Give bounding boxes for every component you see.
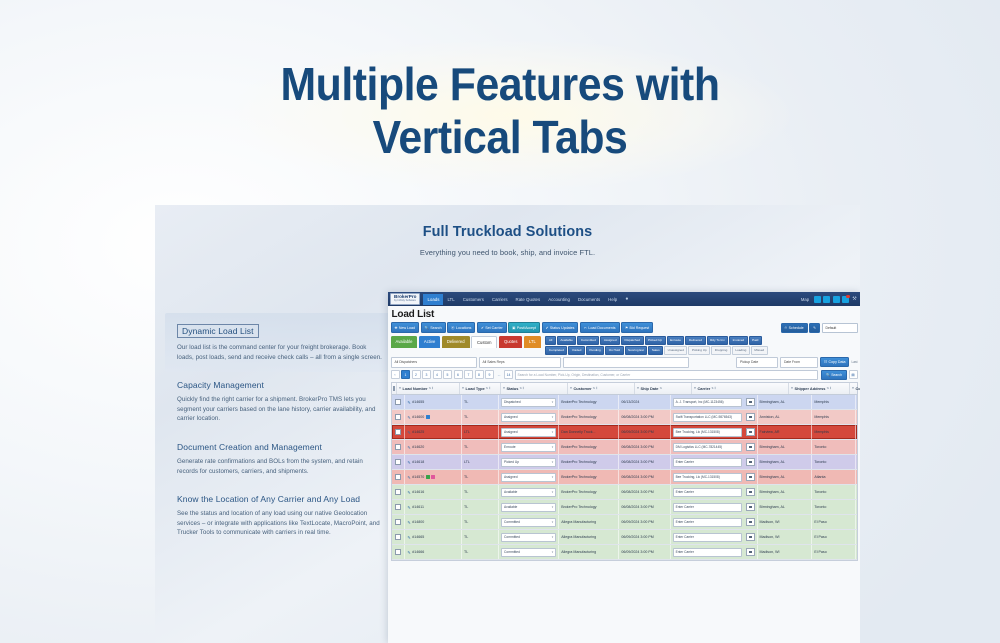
cell-shipper-address: Birmingham, AL (758, 485, 813, 499)
status-chip-scoring-est[interactable]: Scoring Est (625, 346, 648, 355)
feature-tab-0[interactable]: Dynamic Load ListOur load list is the co… (165, 313, 395, 372)
toolbar-new-load-button[interactable]: ✚New Load (391, 322, 420, 333)
status-chip-picked-up[interactable]: Picked Up (645, 336, 666, 345)
cell-shipper-address: Birmingham, AL (758, 470, 813, 484)
row-checkbox[interactable] (392, 425, 406, 439)
status-chip-available[interactable]: Available (557, 336, 577, 345)
cell-status[interactable]: Assigned▾ (499, 470, 559, 484)
status-chip-dispatched[interactable]: Dispatched (621, 336, 643, 345)
status-tabs: AvailableActiveDeliveredCustomQuotesLTL (391, 336, 541, 348)
globe-icon[interactable]: ● (623, 296, 630, 303)
toolbar-search-button[interactable]: 🔍Search (421, 322, 446, 333)
column-header-label: Customer (573, 386, 591, 391)
cell-ship-date: 06/08/2024 3:00 PM (619, 500, 670, 514)
cell-shipper-address: Birmingham, AL (758, 440, 813, 454)
cell-customer: Allegra Manufacturing (559, 530, 619, 544)
check-icon: ✔ (481, 326, 484, 330)
cell-ship-date: 06/09/2024 3:00 PM (619, 515, 670, 529)
status-value: Assigned (504, 430, 518, 434)
carrier-lookup-button[interactable] (746, 428, 755, 436)
checkbox-icon (395, 459, 401, 465)
cell-status[interactable]: Assigned▾ (499, 410, 559, 424)
carrier-input[interactable]: Enter Carrier (673, 548, 742, 557)
table-row[interactable]: ✎#14618LTLPicked Up▾BrokerPro Technology… (392, 455, 857, 470)
table-row[interactable]: ✎#14611TLAvailable▾BrokerPro Technology0… (392, 500, 857, 515)
edit-icon[interactable]: ✎ (407, 415, 410, 420)
checkbox-icon (395, 444, 401, 450)
feature-title: Document Creation and Management (177, 442, 383, 452)
feature-tab-2[interactable]: Document Creation and ManagementGenerate… (165, 434, 395, 486)
column-header-status[interactable]: ▼Status⇅ ⫴ (501, 383, 568, 395)
feature-tab-list: Dynamic Load ListOur load list is the co… (165, 313, 395, 548)
page-button-6[interactable]: 6 (454, 370, 463, 379)
pin-icon: ⦿ (451, 325, 454, 330)
cell-load-number[interactable]: ✎#14666 (405, 545, 462, 559)
cell-load-number[interactable]: ✎#14625 (405, 425, 462, 439)
cell-status[interactable]: Committed▾ (499, 515, 559, 529)
table-row[interactable]: ✎#14655TLDispatched▾BrokerPro Technology… (392, 395, 857, 410)
cell-ship-date: 06/08/2024 3:00 PM (619, 470, 670, 484)
status-tab-available[interactable]: Available (391, 336, 418, 348)
lookup-icon (749, 521, 752, 524)
row-checkbox[interactable] (392, 545, 406, 559)
carrier-input[interactable]: Enter Carrier (673, 503, 742, 512)
carrier-lookup-button[interactable] (746, 533, 755, 541)
carrier-lookup-button[interactable] (746, 413, 755, 421)
column-header-load-type[interactable]: ▼Load Type⇅ ⫴ (460, 383, 501, 395)
cell-load-type: TL (462, 440, 499, 454)
status-chip-dropping[interactable]: Dropping (711, 346, 731, 355)
search-icon: 🔍 (425, 326, 429, 330)
status-value: Enroute (504, 445, 516, 449)
nav-item-loads[interactable]: Loads (423, 294, 443, 305)
status-chip-all[interactable]: All (545, 336, 555, 345)
status-dropdown[interactable]: Assigned▾ (501, 473, 556, 482)
status-chip-on-hold[interactable]: On Hold (605, 346, 623, 355)
filter-icon[interactable]: ▼ (399, 386, 402, 390)
sort-icon[interactable]: ⇅ ⫴ (826, 386, 831, 390)
grid-options-button[interactable]: ▤ (849, 370, 858, 379)
cell-consignee: El Paso (812, 530, 856, 544)
toolbar-button-label: Load Documents (588, 326, 615, 330)
table-row[interactable]: ✎#14625LTLAssigned▾Dan Donnelly Truck...… (392, 425, 857, 440)
cell-status[interactable]: Dispatched▾ (499, 395, 559, 409)
checkbox-icon (395, 399, 401, 405)
status-dropdown[interactable]: Assigned▾ (501, 428, 556, 437)
wrench-icon[interactable]: ⚒ (851, 296, 858, 303)
cell-load-number[interactable]: ✎#14616 (405, 485, 462, 499)
cell-shipper-address: Madison, WI (758, 545, 813, 559)
edit-icon[interactable]: ✎ (407, 520, 410, 525)
tag-icon: ⚑ (625, 326, 628, 330)
status-dropdown[interactable]: Available▾ (501, 503, 556, 512)
status-chip-voided[interactable]: Voided (568, 346, 584, 355)
cell-carrier[interactable]: Bee Trucking, Llc (MC-131508) (671, 425, 758, 439)
checkbox-icon (395, 534, 401, 540)
row-checkbox[interactable] (392, 395, 406, 409)
cell-ship-date: 06/08/2024 3:00 PM (619, 455, 670, 469)
section-subtitle: Everything you need to book, ship, and i… (155, 248, 860, 257)
cell-status[interactable]: Picked Up▾ (499, 455, 559, 469)
view-select[interactable]: Default (822, 323, 858, 333)
cell-load-number[interactable]: ✎#14620 (405, 440, 462, 454)
feature-body: See the status and location of any load … (177, 509, 383, 538)
filter-icon[interactable]: ▼ (694, 386, 697, 390)
load-number-label: #14620 (412, 445, 424, 449)
carrier-input[interactable]: Bee Trucking, Llc (MC-131508) (673, 428, 742, 437)
cell-load-type: TL (462, 500, 499, 514)
search-button[interactable]: 🔍 Search (821, 370, 847, 380)
toolbar-post-accept-button[interactable]: ▣Post/Accept (508, 322, 540, 333)
cell-load-number[interactable]: ✎#14800 (405, 515, 462, 529)
pickup-date-filter[interactable]: Pickup Date (736, 357, 778, 368)
carrier-lookup-button[interactable] (746, 443, 755, 451)
page-ellipsis: ... (496, 371, 503, 378)
nav-item-carriers[interactable]: Carriers (488, 294, 512, 305)
cell-load-number[interactable]: ✎#14655 (405, 395, 462, 409)
status-chip-unassigned[interactable]: Unassigned (664, 346, 687, 355)
date-from-input[interactable]: Date From (780, 357, 818, 368)
nav-item-customers[interactable]: Customers (459, 294, 488, 305)
toolbar-button-label: Locations (456, 326, 471, 330)
schedule-button[interactable]: ⏱ Schedule (781, 323, 808, 333)
status-chip-sales[interactable]: Sales (648, 346, 663, 355)
nav-item-accounting[interactable]: Accounting (544, 294, 574, 305)
chevron-down-icon: ▾ (552, 460, 554, 464)
nav-item-help[interactable]: Help (604, 294, 621, 305)
copy-data-button[interactable]: ☷ Copy Data (820, 357, 850, 367)
table-row[interactable]: ✎#14616TLAvailable▾BrokerPro Technology0… (392, 485, 857, 500)
cell-customer: Allegra Manufacturing (559, 515, 619, 529)
carrier-lookup-button[interactable] (746, 503, 755, 511)
sales-rep-filter[interactable]: All Sales Reps (479, 357, 561, 368)
toolbar-load-documents-button[interactable]: ✂Load Documents (580, 322, 620, 333)
carrier-input[interactable]: Bee Trucking, Llc (MC-131508) (673, 473, 742, 482)
edit-icon[interactable]: ✎ (407, 445, 410, 450)
table-row[interactable]: ✎#14665TLCommitted▾Allegra Manufacturing… (392, 530, 857, 545)
status-value: Assigned (504, 415, 518, 419)
cell-consignee: El Paso (812, 545, 856, 559)
cell-customer: BrokerPro Technology (559, 470, 619, 484)
status-chip-assigned[interactable]: Assigned (600, 336, 620, 345)
cell-carrier[interactable]: Enter Carrier (671, 485, 758, 499)
mail-icon[interactable] (823, 296, 830, 303)
edit-icon[interactable]: ✎ (407, 490, 410, 495)
chevron-down-icon: ▾ (552, 475, 554, 479)
column-header-customer[interactable]: ▼Customer⇅ ⫴ (568, 383, 635, 395)
cell-load-number[interactable]: ✎#14570 (405, 470, 462, 484)
page-button-5[interactable]: 5 (443, 370, 452, 379)
edit-icon[interactable]: ✎ (407, 550, 410, 555)
cell-ship-date: 06/08/2024 3:00 PM (619, 410, 670, 424)
grid-rows: ✎#14655TLDispatched▾BrokerPro Technology… (392, 395, 857, 560)
carrier-input[interactable]: Swift Transportation LLC (MC-9876543) (673, 413, 742, 422)
row-tag-icon (426, 415, 430, 420)
load-number-label: #14600 (412, 415, 424, 419)
status-dropdown[interactable]: Committed▾ (501, 548, 556, 557)
feature-title: Dynamic Load List (177, 324, 259, 338)
checkbox-icon (393, 386, 395, 392)
page-button-1[interactable]: 1 (401, 370, 410, 379)
edit-icon[interactable]: ✎ (407, 535, 410, 540)
headline-line-2: Vertical Tabs (35, 111, 965, 164)
load-number-label: #14655 (412, 400, 424, 404)
edit-icon[interactable]: ✎ (407, 475, 410, 480)
grid-column-headers: ▼Load Number⇅ ⫴▼Load Type⇅ ⫴▼Status⇅ ⫴▼C… (397, 383, 861, 395)
lookup-icon (749, 401, 752, 404)
status-chip-groups: AllAvailableCommittedAssignedDispatchedP… (545, 336, 857, 355)
edit-icon[interactable]: ✎ (407, 400, 410, 405)
page-button-2[interactable]: 2 (412, 370, 421, 379)
cell-shipper-address: Fairview, AR (758, 425, 813, 439)
column-header-label: Consignee (855, 386, 860, 391)
cell-status[interactable]: Committed▾ (499, 545, 559, 559)
chevron-down-icon: ▾ (552, 520, 554, 524)
toolbar-button-label: Status Updates (550, 326, 575, 330)
page-last-button[interactable]: 14 (504, 370, 513, 379)
cell-consignee: Toronto (812, 500, 856, 514)
chevron-down-icon: ▾ (552, 505, 554, 509)
sort-icon[interactable]: ⇅ (659, 386, 662, 390)
brokerpro-logo[interactable]: BrokerPro by Infinity Software (390, 293, 420, 306)
lookup-icon (749, 461, 752, 464)
row-checkbox[interactable] (392, 485, 406, 499)
bell-badge (846, 295, 850, 299)
column-header-shipper-address[interactable]: ▼Shipper Address⇅ ⫴ (789, 383, 850, 395)
bell-icon[interactable] (842, 296, 849, 303)
sort-icon[interactable]: ⇅ ⫴ (486, 386, 491, 390)
cell-consignee: Memphis (812, 395, 856, 409)
cell-shipper-address: Madison, WI (758, 515, 813, 529)
cell-load-number[interactable]: ✎#14600 (405, 410, 462, 424)
status-dropdown[interactable]: Committed▾ (501, 533, 556, 542)
column-header-ship-date[interactable]: ▼Ship Date⇅ (635, 383, 692, 395)
lookup-icon (749, 506, 752, 509)
cell-status[interactable]: Enroute▾ (499, 440, 559, 454)
carrier-input[interactable]: DM Logistics LLC (MC-7821445) (673, 443, 742, 452)
nav-item-rate-quotes[interactable]: Rate Quotes (512, 294, 545, 305)
edit-icon[interactable]: ✎ (407, 505, 410, 510)
cell-ship-date: 06/09/2024 3:00 PM (619, 425, 670, 439)
carrier-input[interactable]: Enter Carrier (673, 488, 742, 497)
quick-filter-input[interactable] (563, 357, 689, 368)
status-tab-row: AvailableActiveDeliveredCustomQuotesLTL … (391, 336, 858, 355)
cell-load-number[interactable]: ✎#14618 (405, 455, 462, 469)
status-chip-rdy-to-inv[interactable]: Rdy To Inv (707, 336, 729, 345)
page-prev-button[interactable]: ‹ (391, 370, 400, 379)
status-dropdown[interactable]: Assigned▾ (501, 413, 556, 422)
carrier-lookup-button[interactable] (746, 458, 755, 466)
column-header-label: Carrier (697, 386, 710, 391)
status-chip-delivered[interactable]: Delivered (685, 336, 705, 345)
sort-icon[interactable]: ⇅ ⫴ (519, 386, 524, 390)
search-input[interactable]: Search for a Load Number, Pick-Up, Origi… (515, 370, 818, 380)
page-button-4[interactable]: 4 (433, 370, 442, 379)
column-header-label: Load Number (402, 386, 427, 391)
cell-status[interactable]: Available▾ (499, 500, 559, 514)
status-tab-custom[interactable]: Custom (471, 336, 497, 348)
filter-icon[interactable]: ▼ (637, 386, 640, 390)
load-number-label: #14665 (412, 535, 424, 539)
carrier-lookup-button[interactable] (746, 473, 755, 481)
status-chip-enroute[interactable]: Enroute (667, 336, 685, 345)
row-checkbox[interactable] (392, 530, 406, 544)
cell-carrier[interactable]: A. J. Transport, Inc (MC-1123456) (671, 395, 758, 409)
lookup-icon (749, 446, 752, 449)
column-header-carrier[interactable]: ▼Carrier⇅ ⫴ (692, 383, 789, 395)
status-tab-ltl[interactable]: LTL (524, 336, 541, 348)
status-dropdown[interactable]: Committed▾ (501, 518, 556, 527)
status-value: Available (504, 490, 517, 494)
cell-carrier[interactable]: Bee Trucking, Llc (MC-131508) (671, 470, 758, 484)
status-chip-committed[interactable]: Committed (577, 336, 599, 345)
toolbar-bid-request-button[interactable]: ⚑Bid Request (621, 322, 653, 333)
carrier-lookup-button[interactable] (746, 518, 755, 526)
toolbar-button-label: New Load (399, 326, 415, 330)
cell-load-number[interactable]: ✎#14665 (405, 530, 462, 544)
status-dropdown[interactable]: Dispatched▾ (501, 398, 556, 407)
row-checkbox[interactable] (392, 500, 406, 514)
feature-title: Capacity Management (177, 380, 383, 390)
cell-carrier[interactable]: Enter Carrier (671, 545, 758, 559)
table-row[interactable]: ✎#14620TLEnroute▾BrokerPro Technology06/… (392, 440, 857, 455)
cell-carrier[interactable]: Swift Transportation LLC (MC-9876543) (671, 410, 758, 424)
lookup-icon (749, 416, 752, 419)
check-icon: ✔ (546, 326, 549, 330)
filter-icon[interactable]: ▼ (462, 386, 465, 390)
status-chip-invoiced[interactable]: Invoiced (729, 336, 748, 345)
page-button-9[interactable]: 9 (485, 370, 494, 379)
toolbar-locations-button[interactable]: ⦿Locations (447, 322, 475, 333)
column-header-consignee[interactable]: ▼Consignee⇅ (850, 383, 861, 395)
filter-icon[interactable]: ▼ (503, 386, 506, 390)
row-checkbox[interactable] (392, 470, 406, 484)
status-tab-quotes[interactable]: Quotes (499, 336, 523, 348)
page-button-7[interactable]: 7 (464, 370, 473, 379)
chevron-down-icon: ▾ (552, 445, 554, 449)
feature-title: Know the Location of Any Carrier and Any… (177, 494, 383, 504)
cell-status[interactable]: Assigned▾ (499, 425, 559, 439)
cell-ship-date: 06/09/2024 3:00 PM (619, 545, 670, 559)
map-link[interactable]: Map (801, 297, 809, 302)
status-dropdown[interactable]: Available▾ (501, 488, 556, 497)
cell-carrier[interactable]: Enter Carrier (671, 500, 758, 514)
status-chip-pending[interactable]: Pending (586, 346, 604, 355)
status-chip-row-1: AllAvailableCommittedAssignedDispatchedP… (545, 336, 857, 345)
cell-load-type: TL (462, 515, 499, 529)
nav-item-documents[interactable]: Documents (574, 294, 604, 305)
status-dropdown[interactable]: Picked Up▾ (501, 458, 556, 467)
status-tab-active[interactable]: Active (419, 336, 440, 348)
cell-load-type: TL (462, 530, 499, 544)
cell-carrier[interactable]: Enter Carrier (671, 455, 758, 469)
carrier-lookup-button[interactable] (746, 548, 755, 556)
row-checkbox[interactable] (392, 455, 406, 469)
toolbar-set-carrier-button[interactable]: ✔Set Carrier (477, 322, 507, 333)
page-button-8[interactable]: 8 (475, 370, 484, 379)
search-button-label: Search (831, 373, 842, 377)
cell-carrier[interactable]: Enter Carrier (671, 515, 758, 529)
table-row[interactable]: ✎#14600TLAssigned▾BrokerPro Technology06… (392, 410, 857, 425)
cell-customer: BrokerPro Technology (559, 395, 619, 409)
row-tag-icon (426, 475, 430, 480)
table-row[interactable]: ✎#14570TLAssigned▾BrokerPro Technology06… (392, 470, 857, 485)
carrier-lookup-button[interactable] (746, 398, 755, 406)
row-checkbox[interactable] (392, 515, 406, 529)
action-toolbar: ✚New Load🔍Search⦿Locations✔Set Carrier▣P… (391, 322, 858, 333)
feature-tab-3[interactable]: Know the Location of Any Carrier and Any… (165, 486, 395, 548)
nav-item-ltl[interactable]: LTL (443, 294, 458, 305)
status-chip-missed[interactable]: Missed (751, 346, 768, 355)
folder-icon: ▣ (512, 326, 515, 330)
sort-icon[interactable]: ⇅ ⫴ (429, 386, 434, 390)
logo-tagline: by Infinity Software (394, 300, 416, 303)
carrier-input[interactable]: Enter Carrier (673, 458, 742, 467)
cell-customer: Allegra Manufacturing (559, 545, 619, 559)
filter-icon[interactable]: ▼ (570, 386, 573, 390)
status-chip-picking-up[interactable]: Picking Up (688, 346, 710, 355)
edit-view-button[interactable]: ✎ (809, 323, 820, 333)
column-header-label: Ship Date (640, 386, 658, 391)
toolbar-status-updates-button[interactable]: ✔Status Updates (542, 322, 579, 333)
user-icon[interactable] (814, 296, 821, 303)
filter-row: All Dispatchers All Sales Reps Pickup Da… (391, 357, 858, 368)
cell-shipper-address: Birmingham, AL (758, 455, 813, 469)
status-dropdown[interactable]: Enroute▾ (501, 443, 556, 452)
table-row[interactable]: ✎#14800TLCommitted▾Allegra Manufacturing… (392, 515, 857, 530)
checkbox-icon (395, 519, 401, 525)
app-body: Load List ✚New Load🔍Search⦿Locations✔Set… (388, 306, 860, 643)
status-tab-delivered[interactable]: Delivered (442, 336, 470, 348)
carrier-input[interactable]: Enter Carrier (673, 518, 742, 527)
paperclip-icon: ✂ (584, 326, 587, 330)
grid-header-row: ▼Load Number⇅ ⫴▼Load Type⇅ ⫴▼Status⇅ ⫴▼C… (392, 383, 857, 396)
edit-icon[interactable]: ✎ (407, 460, 410, 465)
row-checkbox[interactable] (392, 440, 406, 454)
page-button-3[interactable]: 3 (422, 370, 431, 379)
toolbar-button-label: Set Carrier (485, 326, 502, 330)
cell-carrier[interactable]: Enter Carrier (671, 530, 758, 544)
toolbar-buttons: ✚New Load🔍Search⦿Locations✔Set Carrier▣P… (391, 322, 654, 333)
calendar-icon[interactable] (833, 296, 840, 303)
cell-status[interactable]: Available▾ (499, 485, 559, 499)
chevron-down-icon: ▾ (552, 490, 554, 494)
page-number-list: 123456789 (401, 370, 494, 379)
feature-body: Generate rate confirmations and BOLs fro… (177, 457, 383, 476)
sort-icon[interactable]: ⇅ ⫴ (593, 386, 598, 390)
sort-icon[interactable]: ⇅ ⫴ (711, 386, 716, 390)
row-checkbox[interactable] (392, 410, 406, 424)
filter-icon[interactable]: ▼ (852, 386, 855, 390)
feature-tab-1[interactable]: Capacity ManagementQuickly find the righ… (165, 372, 395, 434)
column-header-load-number[interactable]: ▼Load Number⇅ ⫴ (397, 383, 460, 395)
filter-icon[interactable]: ▼ (791, 386, 794, 390)
status-chip-paid[interactable]: Paid (749, 336, 762, 345)
table-row[interactable]: ✎#14666TLCommitted▾Allegra Manufacturing… (392, 545, 857, 560)
status-chip-completed[interactable]: Completed (545, 346, 567, 355)
cell-load-number[interactable]: ✎#14611 (405, 500, 462, 514)
column-header-label: Shipper Address (794, 386, 825, 391)
status-chip-loading[interactable]: Loading (732, 346, 750, 355)
cell-status[interactable]: Committed▾ (499, 530, 559, 544)
dispatcher-filter[interactable]: All Dispatchers (391, 357, 477, 368)
cell-ship-date: 06/09/2024 3:00 PM (619, 530, 670, 544)
carrier-lookup-button[interactable] (746, 488, 755, 496)
edit-icon[interactable]: ✎ (407, 430, 410, 435)
cell-carrier[interactable]: DM Logistics LLC (MC-7821445) (671, 440, 758, 454)
carrier-input[interactable]: A. J. Transport, Inc (MC-1123456) (673, 398, 742, 407)
carrier-input[interactable]: Enter Carrier (673, 533, 742, 542)
